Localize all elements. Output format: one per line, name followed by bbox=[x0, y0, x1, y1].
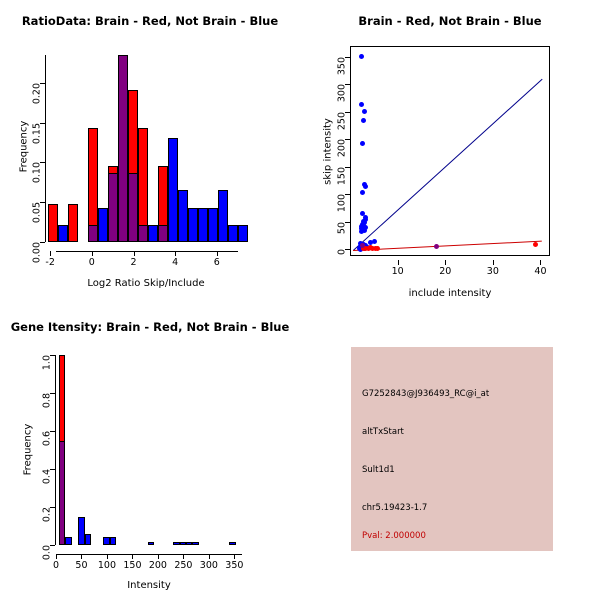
panel-annotation-info: G7252843@J936493_RC@i_at altTxStart Sult… bbox=[351, 347, 553, 551]
histogram-bar-not-brain bbox=[168, 138, 178, 242]
y-tick-label: 0.0 bbox=[42, 545, 53, 560]
y-tick-label: 0.6 bbox=[42, 431, 53, 446]
ratio-x-axis bbox=[56, 251, 238, 252]
ratio-plot-area bbox=[46, 55, 246, 242]
scatter-point bbox=[368, 240, 373, 245]
y-tick-label: 300 bbox=[337, 84, 348, 102]
y-tick-label: 50 bbox=[337, 222, 348, 234]
histogram-bar-not-brain bbox=[58, 225, 68, 242]
histogram-bar-not-brain bbox=[192, 542, 198, 545]
scatter-point bbox=[360, 190, 365, 195]
panel-ratio-histogram: RatioData: Brain - Red, Not Brain - Blue… bbox=[0, 0, 300, 300]
x-tick-label: 300 bbox=[200, 560, 218, 571]
histogram-bar-not-brain bbox=[218, 190, 228, 242]
y-tick-label: 200 bbox=[337, 139, 348, 157]
histogram-bar-overlap bbox=[88, 225, 98, 242]
scatter-fit-line bbox=[353, 241, 542, 251]
ratio-x-axis-title: Log2 Ratio Skip/Include bbox=[46, 278, 246, 289]
x-tick-mark bbox=[183, 554, 184, 559]
x-tick-mark bbox=[540, 260, 541, 265]
scatter-point bbox=[359, 54, 364, 59]
x-tick-label: 100 bbox=[98, 560, 116, 571]
gene-x-axis-title: Intensity bbox=[56, 580, 242, 591]
x-tick-label: 0 bbox=[89, 257, 95, 268]
info-event-type: altTxStart bbox=[362, 427, 404, 437]
histogram-bar-not-brain bbox=[148, 542, 154, 545]
histogram-bar-not-brain bbox=[188, 208, 198, 242]
ratio-y-axis bbox=[45, 55, 46, 242]
histogram-bar-brain bbox=[68, 204, 78, 242]
histogram-bar-overlap bbox=[59, 441, 65, 545]
y-tick-label: 100 bbox=[337, 194, 348, 212]
x-tick-mark bbox=[56, 554, 57, 559]
scatter-fit-line bbox=[353, 79, 542, 251]
panel-gene-histogram: Gene Itensity: Brain - Red, Not Brain - … bbox=[0, 300, 300, 600]
x-tick-mark bbox=[234, 554, 235, 559]
histogram-bar-not-brain bbox=[228, 225, 238, 242]
histogram-bar-brain bbox=[48, 204, 58, 242]
x-tick-mark bbox=[134, 251, 135, 256]
x-tick-mark bbox=[92, 251, 93, 256]
scatter-point bbox=[372, 239, 377, 244]
histogram-bar-not-brain bbox=[85, 534, 91, 545]
scatter-point bbox=[360, 141, 365, 146]
y-tick-label: 0.4 bbox=[42, 469, 53, 484]
gene-y-axis bbox=[55, 355, 56, 545]
histogram-bar-not-brain bbox=[238, 225, 248, 242]
ratio-y-axis-title: Frequency bbox=[19, 107, 30, 187]
y-tick-label: 250 bbox=[337, 112, 348, 130]
histogram-bar-overlap bbox=[118, 55, 128, 242]
gene-y-axis-title: Frequency bbox=[23, 410, 34, 490]
x-tick-mark bbox=[445, 260, 446, 265]
panel-intensity-scatter: Brain - Red, Not Brain - Blue 0501001502… bbox=[300, 0, 600, 300]
panel-scatter-title: Brain - Red, Not Brain - Blue bbox=[300, 14, 600, 28]
plot-canvas: RatioData: Brain - Red, Not Brain - Blue… bbox=[0, 0, 600, 600]
x-tick-label: -2 bbox=[45, 257, 54, 268]
scatter-point bbox=[359, 229, 364, 234]
histogram-bar-not-brain bbox=[98, 208, 108, 242]
histogram-bar-not-brain bbox=[148, 225, 158, 242]
gene-plot-area bbox=[56, 355, 242, 545]
x-tick-label: 250 bbox=[174, 560, 192, 571]
x-tick-mark bbox=[132, 554, 133, 559]
x-tick-label: 200 bbox=[149, 560, 167, 571]
y-tick-label: 0.2 bbox=[42, 507, 53, 522]
y-tick-label: 0.15 bbox=[32, 123, 43, 144]
scatter-point bbox=[361, 118, 366, 123]
panel-gene-title: Gene Itensity: Brain - Red, Not Brain - … bbox=[0, 320, 300, 334]
scatter-plot-area bbox=[350, 46, 550, 256]
histogram-bar-not-brain bbox=[198, 208, 208, 242]
scatter-point bbox=[533, 242, 538, 247]
x-tick-mark bbox=[209, 554, 210, 559]
histogram-bar-not-brain bbox=[208, 208, 218, 242]
scatter-point bbox=[362, 109, 367, 114]
y-tick-label: 350 bbox=[337, 57, 348, 75]
x-tick-mark bbox=[175, 251, 176, 256]
histogram-bar-not-brain bbox=[178, 190, 188, 242]
x-tick-mark bbox=[107, 554, 108, 559]
y-tick-label: 0 bbox=[337, 249, 348, 255]
y-tick-label: 1.0 bbox=[42, 355, 53, 370]
x-tick-mark bbox=[217, 251, 218, 256]
gene-x-axis bbox=[56, 554, 242, 555]
scatter-point bbox=[434, 244, 439, 249]
x-tick-mark bbox=[81, 554, 82, 559]
x-tick-label: 2 bbox=[130, 257, 136, 268]
panel-ratio-title: RatioData: Brain - Red, Not Brain - Blue bbox=[0, 14, 300, 28]
info-gene-symbol: Sult1d1 bbox=[362, 465, 395, 475]
x-tick-label: 6 bbox=[214, 257, 220, 268]
histogram-bar-not-brain bbox=[110, 537, 116, 545]
y-tick-label: 150 bbox=[337, 167, 348, 185]
x-tick-label: 4 bbox=[172, 257, 178, 268]
y-tick-label: 0.05 bbox=[32, 202, 43, 223]
x-tick-label: 50 bbox=[75, 560, 87, 571]
info-pval: Pval: 2.000000 bbox=[362, 531, 426, 541]
x-tick-mark bbox=[158, 554, 159, 559]
scatter-x-axis-title: include intensity bbox=[350, 288, 550, 299]
y-tick-label: 0.8 bbox=[42, 393, 53, 408]
histogram-bar-not-brain bbox=[229, 542, 235, 545]
histogram-bar-overlap bbox=[108, 173, 118, 242]
x-tick-mark bbox=[398, 260, 399, 265]
x-tick-mark bbox=[50, 251, 51, 256]
info-locus: chr5.19423-1.7 bbox=[362, 503, 427, 513]
x-tick-label: 20 bbox=[439, 266, 451, 277]
x-tick-label: 150 bbox=[123, 560, 141, 571]
x-tick-label: 350 bbox=[225, 560, 243, 571]
scatter-point bbox=[359, 102, 364, 107]
x-tick-label: 0 bbox=[53, 560, 59, 571]
histogram-bar-not-brain bbox=[65, 537, 71, 545]
histogram-bar-overlap bbox=[138, 225, 148, 242]
info-probe-id: G7252843@J936493_RC@i_at bbox=[362, 389, 489, 399]
histogram-bar-overlap bbox=[158, 225, 168, 242]
scatter-point bbox=[363, 184, 368, 189]
x-tick-label: 40 bbox=[534, 266, 546, 277]
y-tick-label: 0.00 bbox=[32, 242, 43, 263]
x-tick-label: 10 bbox=[392, 266, 404, 277]
x-tick-label: 30 bbox=[487, 266, 499, 277]
scatter-y-axis-title: skip intensity bbox=[323, 107, 334, 197]
scatter-point bbox=[360, 243, 365, 248]
histogram-bar-overlap bbox=[128, 173, 138, 242]
y-tick-label: 0.20 bbox=[32, 83, 43, 104]
y-tick-label: 0.10 bbox=[32, 162, 43, 183]
x-tick-mark bbox=[493, 260, 494, 265]
